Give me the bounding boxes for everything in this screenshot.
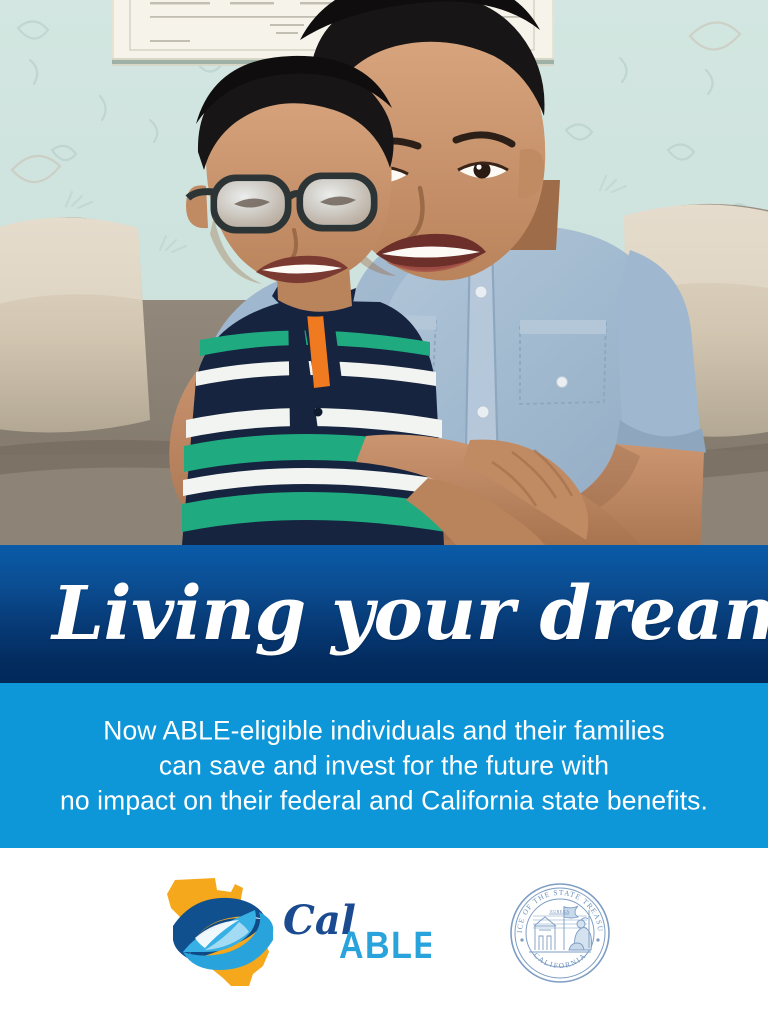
- seal-text-bottom: CALIFORNIA: [532, 951, 589, 970]
- calable-wordmark: Cal ABLE: [281, 894, 431, 972]
- wordmark-able: ABLE: [339, 923, 431, 966]
- subcopy-text: Now ABLE-eligible individuals and their …: [0, 713, 768, 818]
- poster-root: Living your dreams Now ABLE-eligible ind…: [0, 0, 768, 1024]
- svg-text:CALIFORNIA: CALIFORNIA: [532, 951, 589, 970]
- subcopy-line-1: Now ABLE-eligible individuals and their …: [0, 713, 768, 748]
- svg-text:OFFICE OF THE STATE TREASURER: OFFICE OF THE STATE TREASURER: [509, 882, 605, 933]
- seal-text-inner: EUREKA: [550, 909, 569, 914]
- headline-band: Living your dreams: [0, 545, 768, 683]
- subcopy-line-2: can save and invest for the future with: [0, 748, 768, 783]
- subcopy-line-3: no impact on their federal and Californi…: [0, 783, 768, 818]
- calable-mark-icon: [157, 874, 285, 992]
- state-treasurer-seal-icon: OFFICE OF THE STATE TREASURER CALIFORNIA: [509, 882, 611, 984]
- page-title: Living your dreams: [52, 577, 768, 651]
- calable-logo: Cal ABLE: [157, 874, 431, 992]
- seal-text-top: OFFICE OF THE STATE TREASURER: [509, 882, 605, 933]
- subcopy-band: Now ABLE-eligible individuals and their …: [0, 683, 768, 848]
- footer-logo-bar: Cal ABLE OFFICE OF THE STATE TREASURER: [0, 848, 768, 1024]
- hero-photo: [0, 0, 768, 545]
